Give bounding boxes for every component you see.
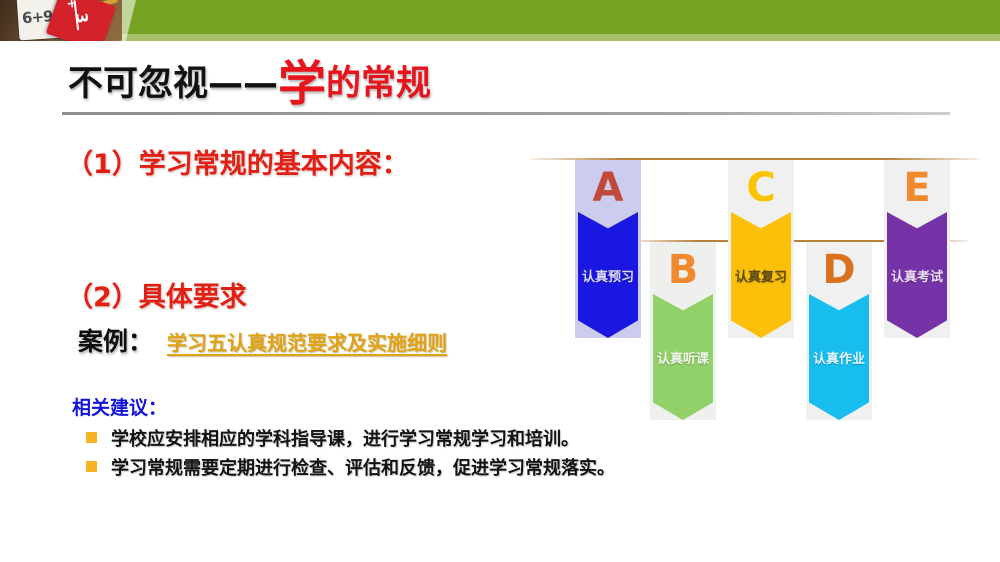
- banner-caption-d: 认真作业: [809, 348, 869, 367]
- flashcard-red-plus: +: [63, 0, 79, 10]
- list-item-label: 学校应安排相应的学科指导课，进行学习常规学习和培训。: [111, 425, 579, 451]
- banner-b[interactable]: B认真听课: [650, 242, 716, 420]
- banner-caption-c: 认真复习: [731, 266, 791, 285]
- banner-caption-a: 认真预习: [578, 266, 638, 285]
- banner-caption-e: 认真考试: [887, 266, 947, 285]
- page-title-red: 的常规: [326, 64, 431, 104]
- bullet-square-icon: [86, 461, 97, 472]
- section-heading-2: （2）具体要求: [66, 275, 247, 314]
- bullet-square-icon: [86, 432, 97, 443]
- flashcard-red: + 3: [46, 0, 116, 41]
- title-divider: [62, 112, 950, 115]
- banner-c[interactable]: C认真复习: [728, 160, 794, 338]
- list-item-label: 学习常规需要定期进行检查、评估和反馈，促进学习常规落实。: [111, 454, 615, 480]
- header-green-light-strip: [0, 34, 1000, 41]
- list-item: 学习常规需要定期进行检查、评估和反馈，促进学习常规落实。: [86, 452, 615, 481]
- suggestions-heading: 相关建议：: [72, 393, 167, 420]
- banner-letter-b: B: [650, 248, 716, 292]
- banner-a[interactable]: A认真预习: [575, 160, 641, 338]
- section-heading-1: （1）学习常规的基本内容：: [66, 142, 409, 181]
- banner-caption-b: 认真听课: [653, 348, 713, 367]
- banner-e[interactable]: E认真考试: [884, 160, 950, 338]
- flashcard-red-number: 3: [72, 12, 91, 25]
- page-title-black: 不可忽视——: [68, 64, 278, 104]
- suggestions-list: 学校应安排相应的学科指导课，进行学习常规学习和培训。 学习常规需要定期进行检查、…: [86, 423, 615, 481]
- case-label: 案例：: [78, 322, 153, 358]
- case-row: 案例： 学习五认真规范要求及实施细则: [78, 322, 447, 358]
- slide-canvas: 6+9 + 3 不可忽视——学的常规 （1）学习常规的基本内容： （2）具体要求…: [0, 0, 1000, 562]
- banner-letter-c: C: [728, 166, 794, 210]
- five-step-banner-diagram: A认真预习B认真听课C认真复习D认真作业E认真考试: [520, 150, 990, 430]
- case-document-link[interactable]: 学习五认真规范要求及实施细则: [167, 327, 447, 356]
- page-title: 不可忽视——学的常规: [68, 62, 431, 106]
- page-title-emphasis-char: 学: [278, 56, 326, 112]
- banner-letter-a: A: [575, 166, 641, 210]
- banner-d[interactable]: D认真作业: [806, 242, 872, 420]
- banner-letter-e: E: [884, 166, 950, 210]
- banner-letter-d: D: [806, 248, 872, 292]
- math-flashcards-photo: 6+9 + 3: [0, 0, 122, 41]
